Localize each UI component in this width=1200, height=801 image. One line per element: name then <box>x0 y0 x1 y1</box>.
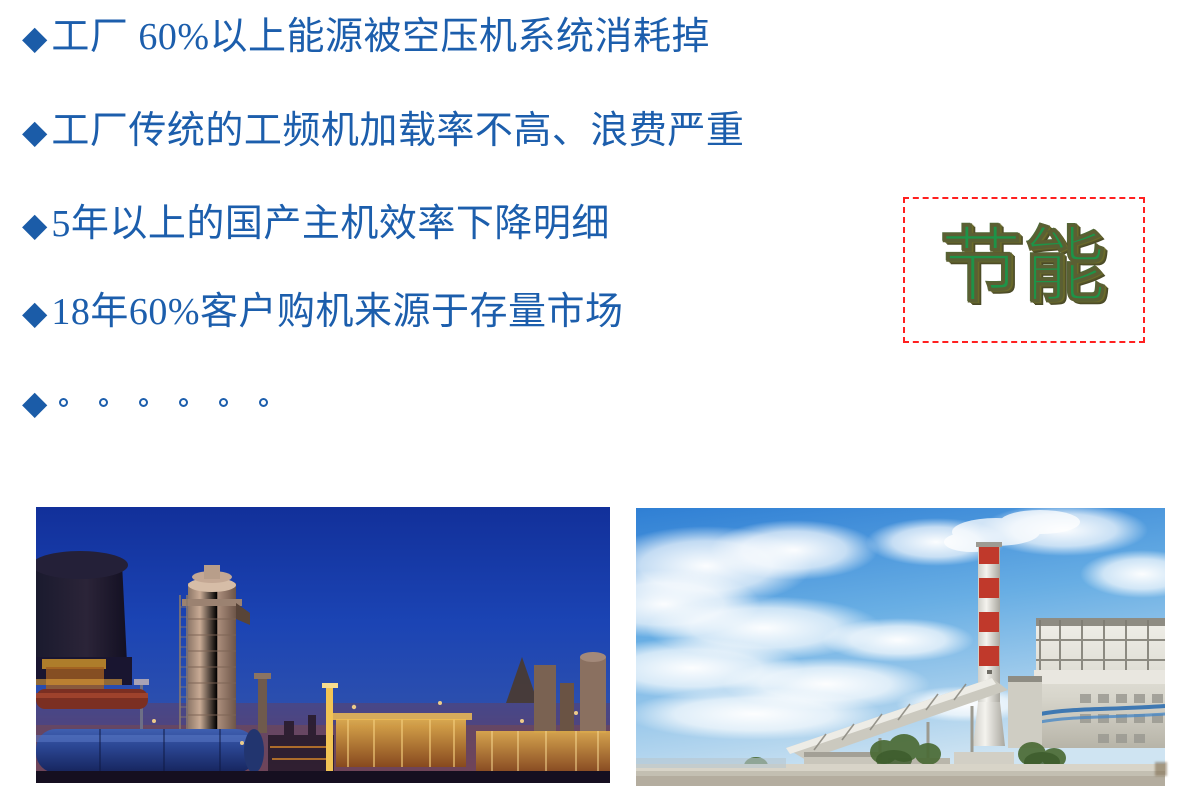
circle-dot-icon <box>259 398 268 407</box>
list-item-label: 18年60%客户购机来源于存量市场 <box>51 293 623 333</box>
list-item-label: 工厂传统的工频机加载率不高、浪费严重 <box>51 112 744 152</box>
circle-dot-icon <box>179 398 188 407</box>
list-item: ◆ 工厂 60%以上能源被空压机系统消耗掉 <box>22 18 710 58</box>
circle-dot-icon <box>59 398 68 407</box>
energy-saving-stamp-label: 节能 <box>940 226 1108 314</box>
ellipsis-dots <box>59 398 299 407</box>
diamond-bullet-icon: ◆ <box>22 296 47 329</box>
list-item-label: 5年以上的国产主机效率下降明细 <box>51 205 610 245</box>
list-item: ◆ 5年以上的国产主机效率下降明细 <box>22 205 610 245</box>
list-item: ◆ 18年60%客户购机来源于存量市场 <box>22 293 624 333</box>
diamond-bullet-icon: ◆ <box>22 115 47 148</box>
corner-artifact <box>1155 762 1167 776</box>
photo-refinery-at-dusk <box>36 507 610 783</box>
list-item-label: 工厂 60%以上能源被空压机系统消耗掉 <box>51 18 710 58</box>
refinery-illustration <box>36 507 610 783</box>
circle-dot-icon <box>139 398 148 407</box>
list-item-ellipsis: ◆ <box>22 386 299 419</box>
diamond-bullet-icon: ◆ <box>22 386 47 419</box>
circle-dot-icon <box>99 398 108 407</box>
slide-canvas: ◆ 工厂 60%以上能源被空压机系统消耗掉 ◆ 工厂传统的工频机加载率不高、浪费… <box>0 0 1200 801</box>
energy-saving-stamp: 节能 <box>903 197 1145 343</box>
diamond-bullet-icon: ◆ <box>22 208 47 241</box>
circle-dot-icon <box>219 398 228 407</box>
list-item: ◆ 工厂传统的工频机加载率不高、浪费严重 <box>22 112 744 152</box>
photo-power-plant-daytime <box>636 508 1165 786</box>
power-plant-illustration <box>636 508 1165 786</box>
diamond-bullet-icon: ◆ <box>22 21 47 54</box>
